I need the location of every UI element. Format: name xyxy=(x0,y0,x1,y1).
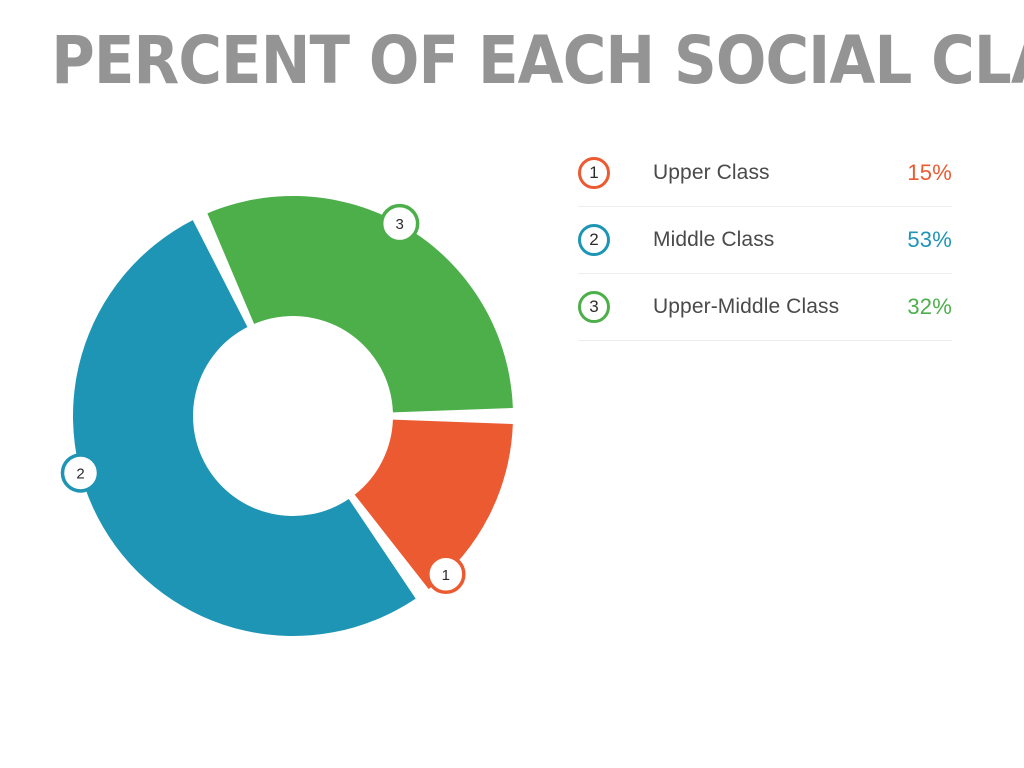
page-title: PERCENT OF EACH SOCIAL CLASS xyxy=(51,28,973,94)
legend-value-middle-class: 53% xyxy=(888,227,952,253)
legend-badge-number: 1 xyxy=(589,163,598,183)
donut-chart: 123 xyxy=(40,160,560,680)
legend-badge-1: 1 xyxy=(578,157,610,189)
legend-badge-number: 2 xyxy=(589,230,598,250)
donut-badge-2[interactable]: 2 xyxy=(62,455,98,491)
legend-row[interactable]: 1 Upper Class 15% xyxy=(578,140,952,207)
legend: 1 Upper Class 15% 2 Middle Class 53% 3 U… xyxy=(578,140,952,341)
donut-badge-number: 3 xyxy=(395,216,403,233)
donut-badge-number: 1 xyxy=(442,567,450,584)
legend-value-upper-class: 15% xyxy=(888,160,952,186)
legend-badge-number: 3 xyxy=(589,297,598,317)
legend-badge-3: 3 xyxy=(578,291,610,323)
legend-row[interactable]: 2 Middle Class 53% xyxy=(578,207,952,274)
donut-badge-3[interactable]: 3 xyxy=(382,206,418,242)
donut-badge-1[interactable]: 1 xyxy=(428,556,464,592)
donut-badge-number: 2 xyxy=(76,465,84,482)
donut-slice-3[interactable] xyxy=(207,196,512,412)
legend-label-upper-middle-class: Upper-Middle Class xyxy=(653,295,888,319)
legend-row[interactable]: 3 Upper-Middle Class 32% xyxy=(578,274,952,341)
legend-label-middle-class: Middle Class xyxy=(653,228,888,252)
legend-badge-2: 2 xyxy=(578,224,610,256)
donut-chart-svg: 123 xyxy=(40,160,560,680)
legend-value-upper-middle-class: 32% xyxy=(888,294,952,320)
legend-label-upper-class: Upper Class xyxy=(653,161,888,185)
